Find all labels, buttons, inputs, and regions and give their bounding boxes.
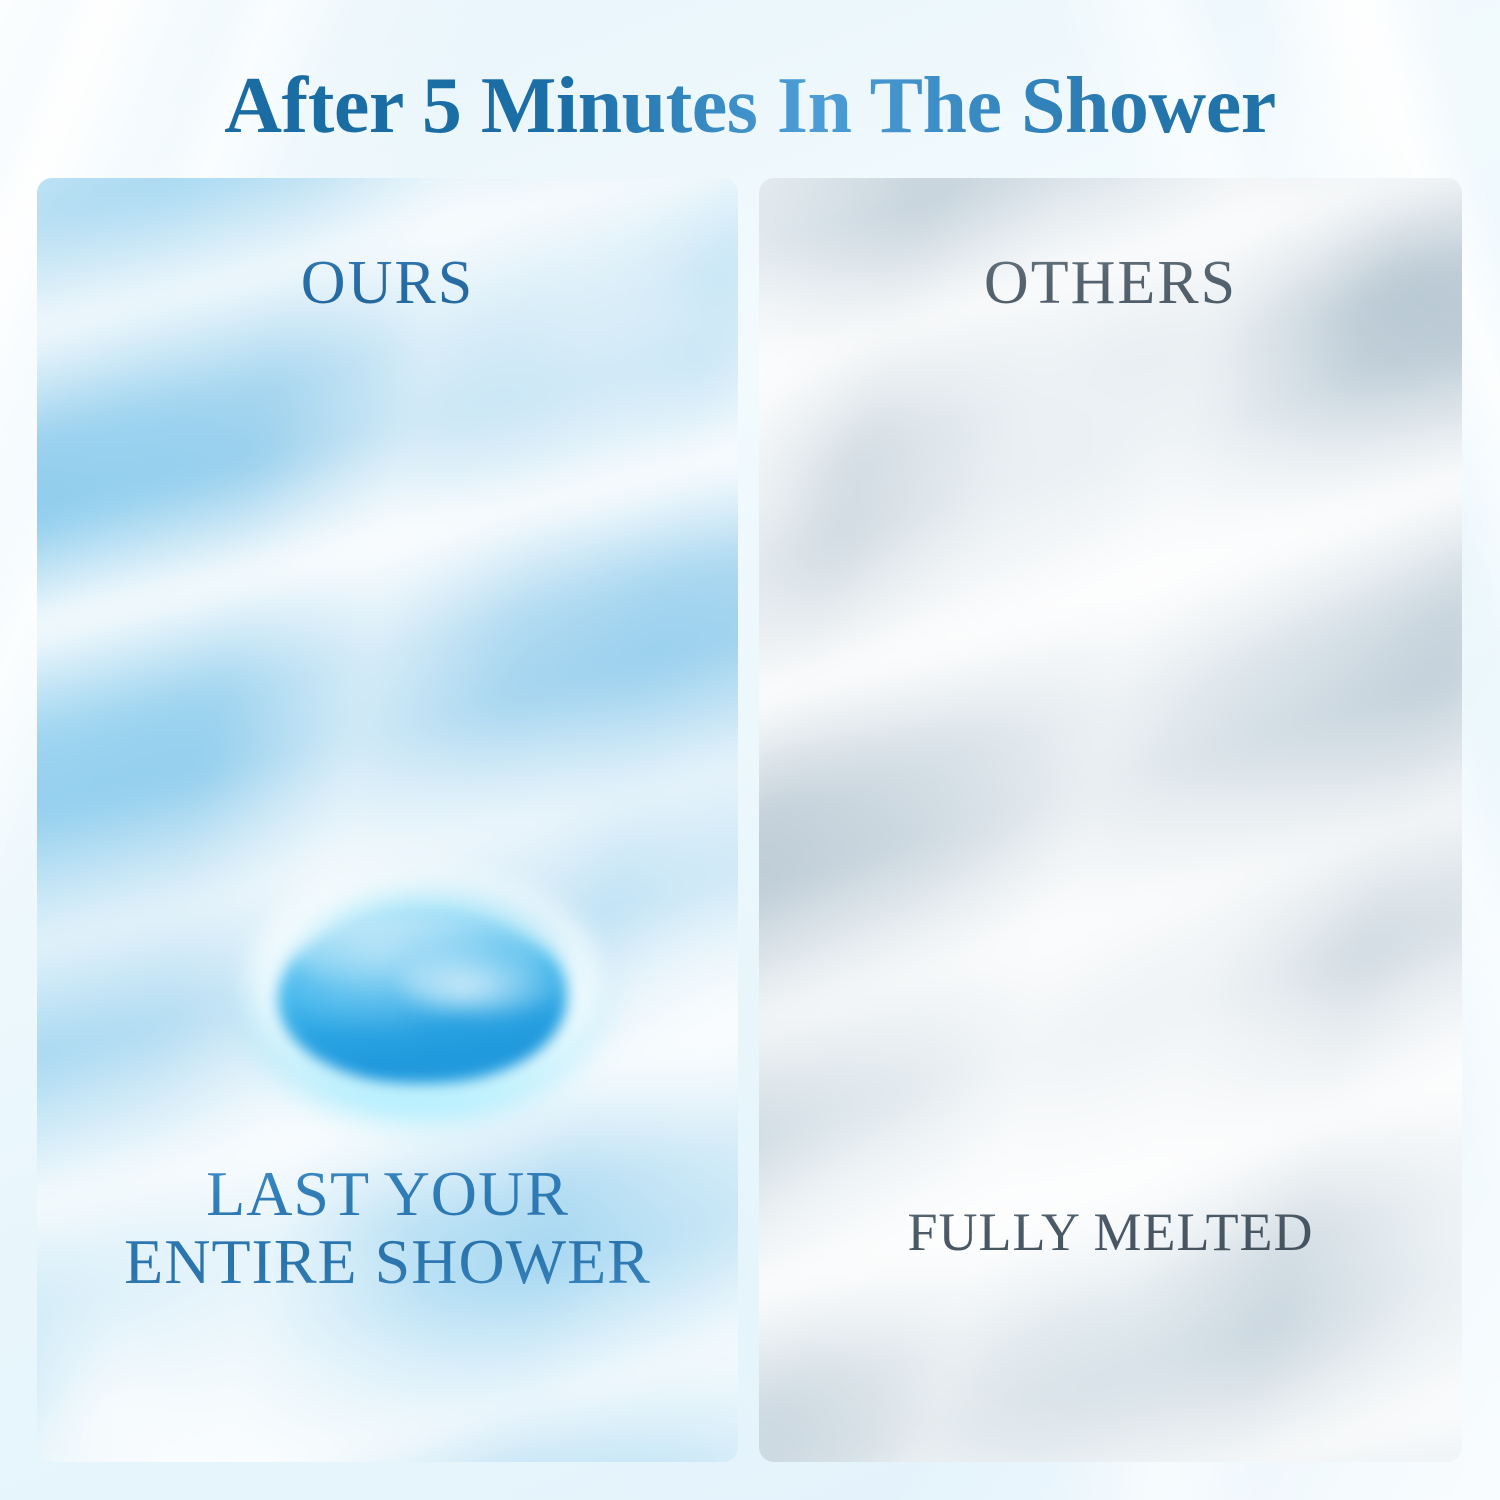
panel-footer-others: FULLY MELTED: [759, 1204, 1462, 1261]
panel-heading-ours: OURS: [37, 252, 738, 314]
tablet-rim-highlight: [399, 946, 571, 1014]
panel-heading-others: OTHERS: [759, 252, 1462, 314]
panel-footer-ours-line1: LAST YOUR: [37, 1160, 738, 1228]
intact-shower-tablet: [227, 868, 617, 1128]
comparison-graphic: After 5 Minutes In The Shower OURS LAST …: [0, 0, 1500, 1500]
panel-footer-ours: LAST YOUR ENTIRE SHOWER: [37, 1160, 738, 1296]
water-ripple-texture-others: [759, 178, 1462, 1462]
panel-others: [759, 178, 1462, 1462]
page-title: After 5 Minutes In The Shower: [0, 64, 1500, 148]
panel-footer-ours-line2: ENTIRE SHOWER: [37, 1228, 738, 1296]
